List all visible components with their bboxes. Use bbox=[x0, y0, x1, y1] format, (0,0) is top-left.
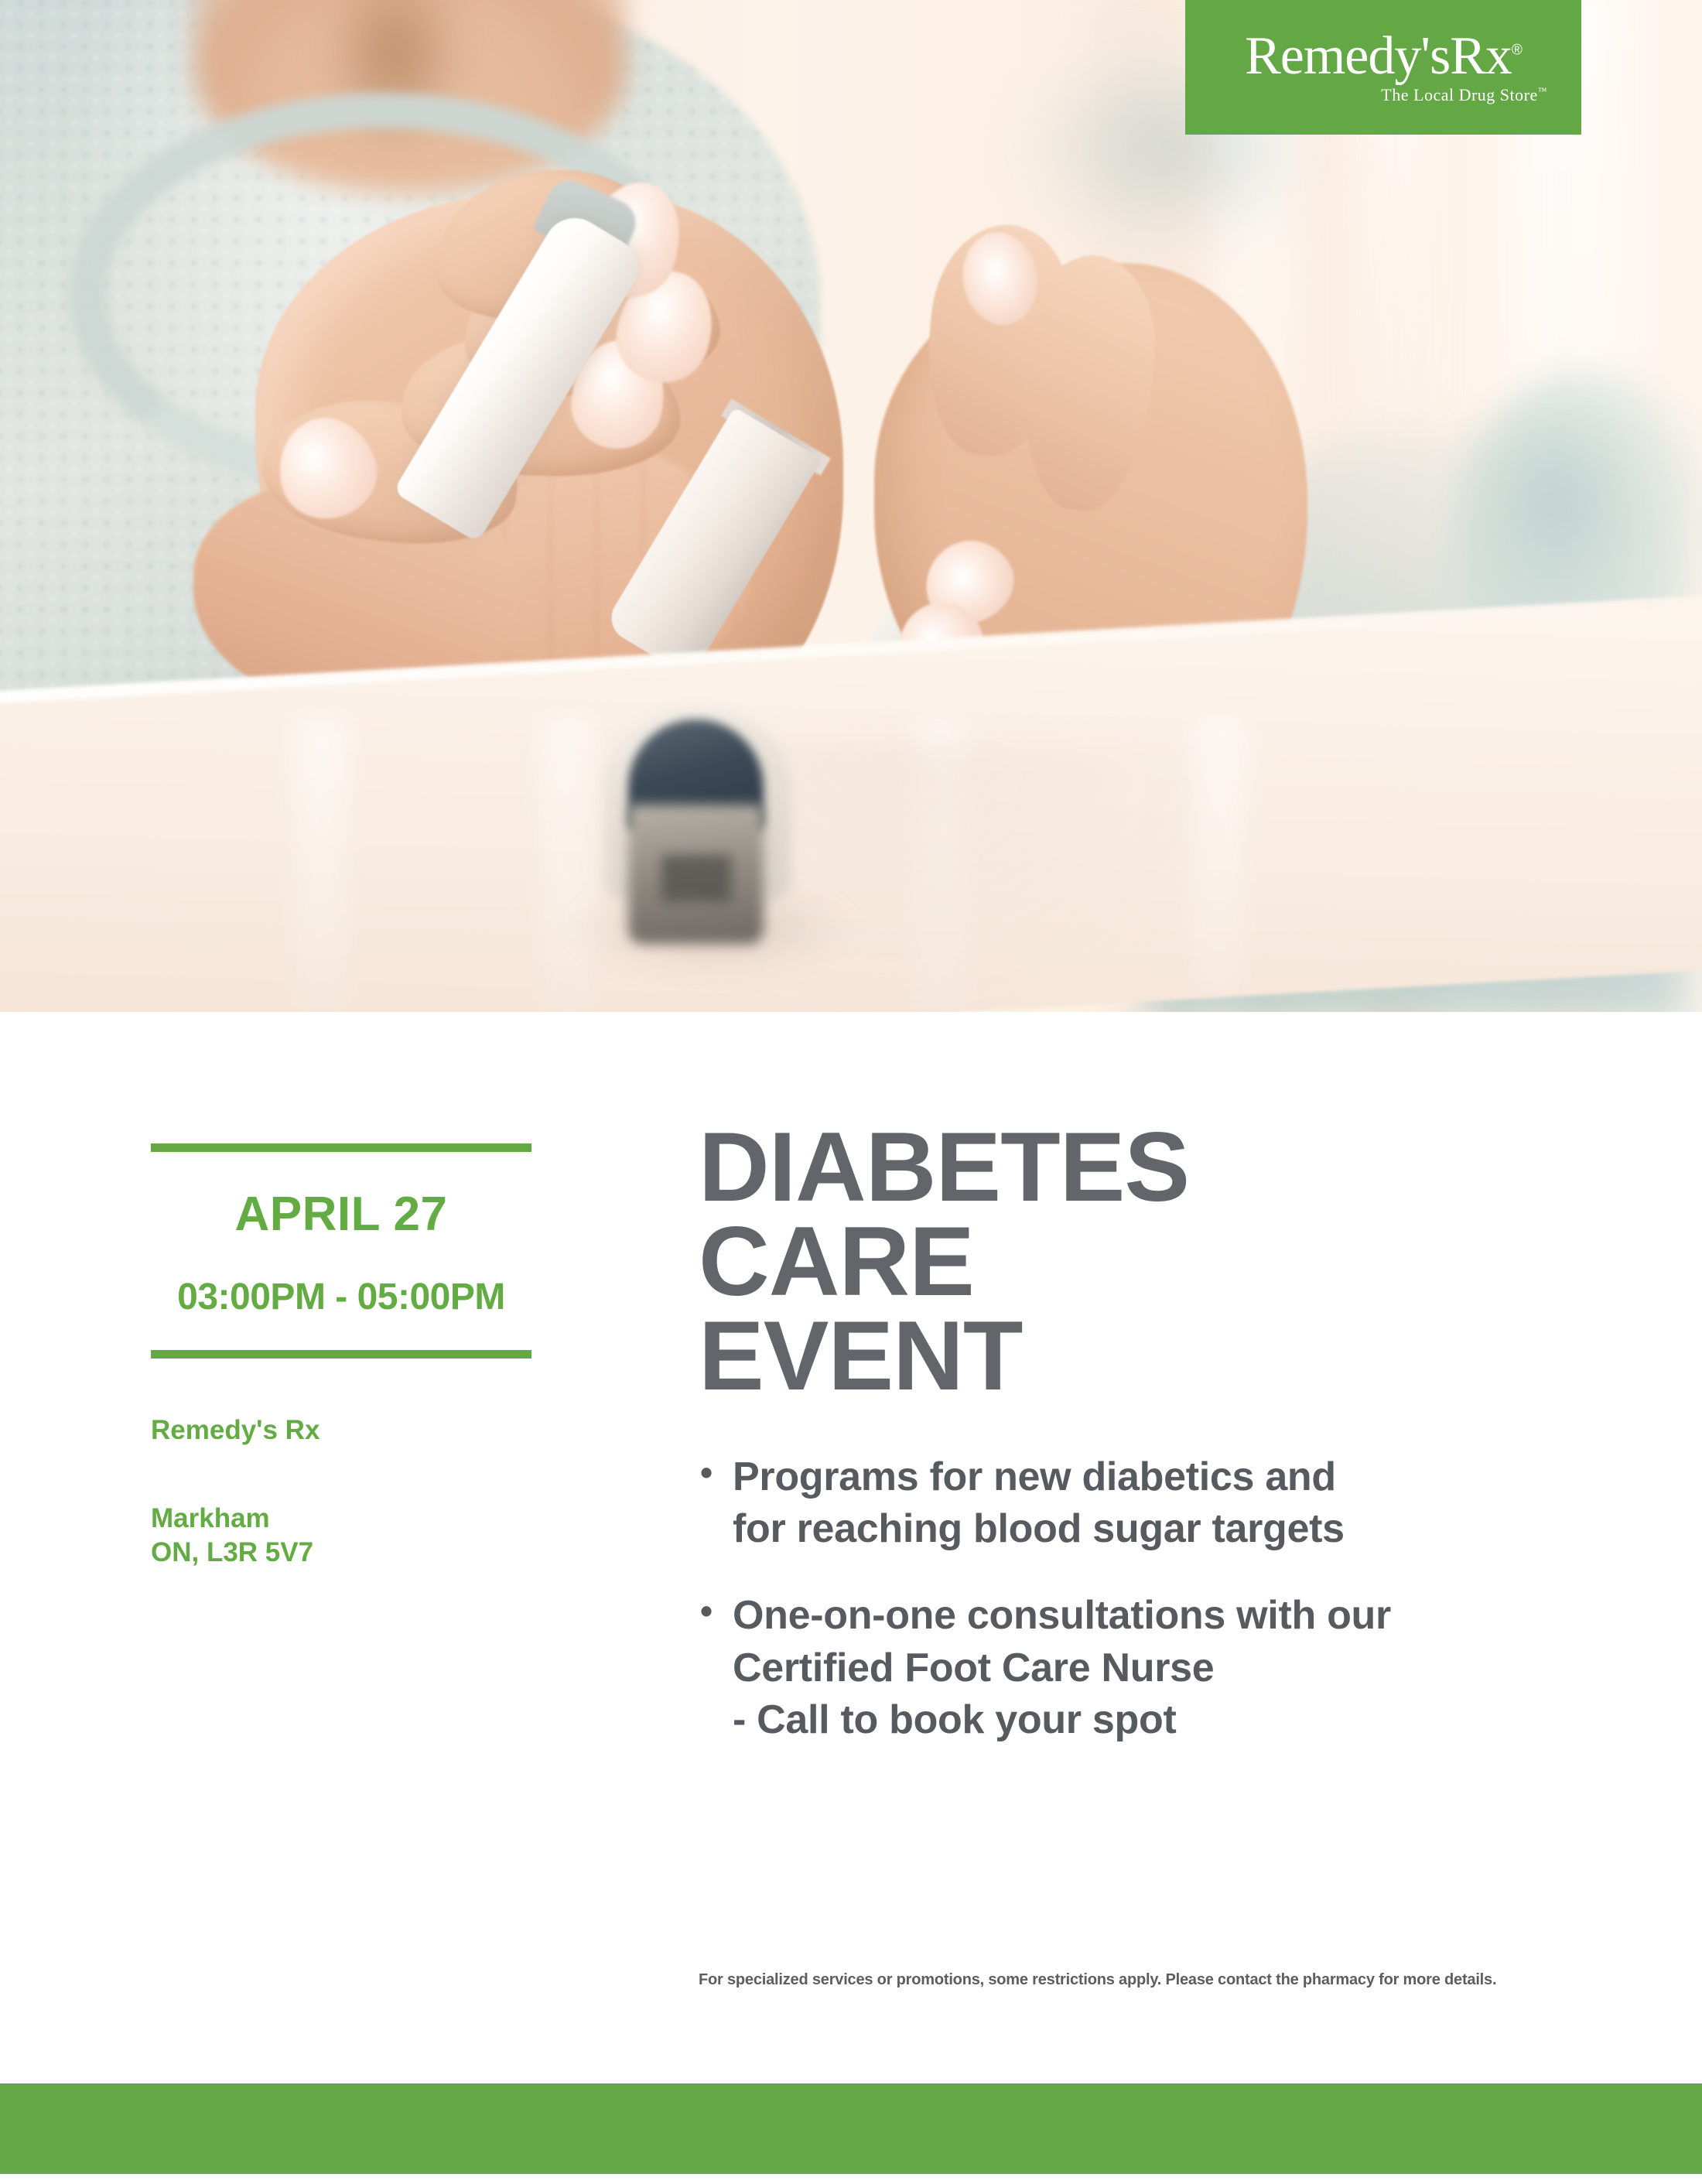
footer-band bbox=[0, 2083, 1702, 2174]
divider-top bbox=[151, 1143, 531, 1152]
bullet-2-line-3: - Call to book your spot bbox=[733, 1694, 1588, 1747]
hero-photo bbox=[0, 0, 1702, 1012]
event-info-column: APRIL 27 03:00PM - 05:00PM Remedy's Rx M… bbox=[151, 1143, 531, 1570]
poster-page: Remedy'sRx® The Local Drug Store™ APRIL … bbox=[0, 0, 1702, 2184]
footer-white-strip bbox=[0, 2174, 1702, 2184]
brand-tagline-text: The Local Drug Store bbox=[1381, 85, 1537, 104]
main-column: DIABETES CARE EVENT Programs for new dia… bbox=[699, 1120, 1588, 1781]
store-address: Markham ON, L3R 5V7 bbox=[151, 1502, 531, 1571]
divider-bottom bbox=[151, 1350, 531, 1359]
brand-logo-text: Remedy'sRx bbox=[1245, 26, 1512, 86]
store-city: Markham bbox=[151, 1502, 531, 1536]
event-date: APRIL 27 bbox=[151, 1191, 531, 1239]
headline-line-2: CARE bbox=[699, 1215, 1588, 1309]
event-time: 03:00PM - 05:00PM bbox=[151, 1279, 531, 1316]
registered-trademark-icon: ® bbox=[1512, 43, 1522, 59]
glucose-meter-strip bbox=[661, 855, 731, 901]
headline-line-3: EVENT bbox=[699, 1309, 1588, 1403]
store-region-postal: ON, L3R 5V7 bbox=[151, 1536, 531, 1570]
bullet-1-line-1: Programs for new diabetics and bbox=[733, 1451, 1588, 1504]
bullet-2-line-1: One-on-one consultations with our bbox=[733, 1590, 1588, 1642]
table-light-streak bbox=[294, 719, 348, 1012]
page-title: DIABETES CARE EVENT bbox=[699, 1120, 1588, 1403]
list-item: Programs for new diabetics and for reach… bbox=[699, 1451, 1588, 1556]
trademark-icon: ™ bbox=[1538, 86, 1547, 97]
list-item: One-on-one consultations with our Certif… bbox=[699, 1590, 1588, 1747]
bullet-2-line-2: Certified Foot Care Nurse bbox=[733, 1642, 1588, 1695]
bullet-1-line-2: for reaching blood sugar targets bbox=[733, 1503, 1588, 1556]
feature-list: Programs for new diabetics and for reach… bbox=[699, 1451, 1588, 1747]
headline-line-1: DIABETES bbox=[699, 1120, 1588, 1215]
poster-content: APRIL 27 03:00PM - 05:00PM Remedy's Rx M… bbox=[0, 1012, 1702, 2083]
brand-tagline: The Local Drug Store™ bbox=[1381, 85, 1547, 105]
brand-logo-wordmark: Remedy'sRx® bbox=[1245, 29, 1522, 84]
disclaimer-text: For specialized services or promotions, … bbox=[699, 1971, 1550, 1989]
brand-logo-band: Remedy'sRx® The Local Drug Store™ bbox=[1185, 0, 1581, 135]
store-name: Remedy's Rx bbox=[151, 1416, 531, 1446]
